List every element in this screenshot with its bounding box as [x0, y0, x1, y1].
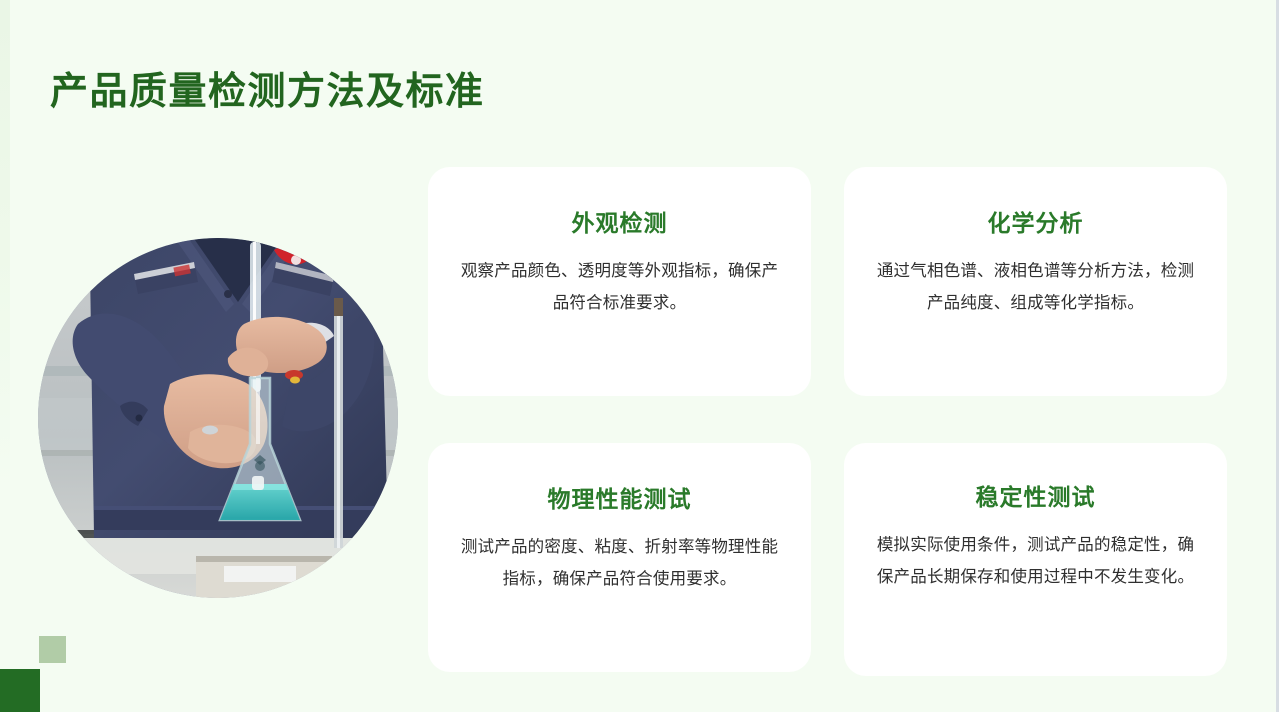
card-body: 模拟实际使用条件，测试产品的稳定性，确保产品长期保存和使用过程中不发生变化。: [870, 529, 1201, 593]
card-title: 化学分析: [870, 209, 1201, 239]
lab-photo: [38, 238, 398, 598]
card-title: 外观检测: [454, 209, 785, 239]
decor-square-dark: [0, 669, 40, 712]
card-stability-test[interactable]: 稳定性测试 模拟实际使用条件，测试产品的稳定性，确保产品长期保存和使用过程中不发…: [844, 443, 1227, 676]
lab-photo-illustration: [38, 238, 398, 598]
card-title: 稳定性测试: [870, 483, 1201, 513]
card-chemical-analysis[interactable]: 化学分析 通过气相色谱、液相色谱等分析方法，检测产品纯度、组成等化学指标。: [844, 167, 1227, 396]
slide-root: 产品质量检测方法及标准: [0, 0, 1279, 712]
decor-square-light: [39, 636, 66, 663]
card-body: 观察产品颜色、透明度等外观指标，确保产品符合标准要求。: [454, 255, 785, 319]
card-body: 测试产品的密度、粘度、折射率等物理性能指标，确保产品符合使用要求。: [454, 531, 785, 595]
card-title: 物理性能测试: [454, 485, 785, 515]
page-title: 产品质量检测方法及标准: [50, 69, 485, 117]
left-gradient-strip: [0, 0, 10, 712]
card-physical-performance-test[interactable]: 物理性能测试 测试产品的密度、粘度、折射率等物理性能指标，确保产品符合使用要求。: [428, 443, 811, 672]
card-appearance-inspection[interactable]: 外观检测 观察产品颜色、透明度等外观指标，确保产品符合标准要求。: [428, 167, 811, 396]
card-body: 通过气相色谱、液相色谱等分析方法，检测产品纯度、组成等化学指标。: [870, 255, 1201, 319]
